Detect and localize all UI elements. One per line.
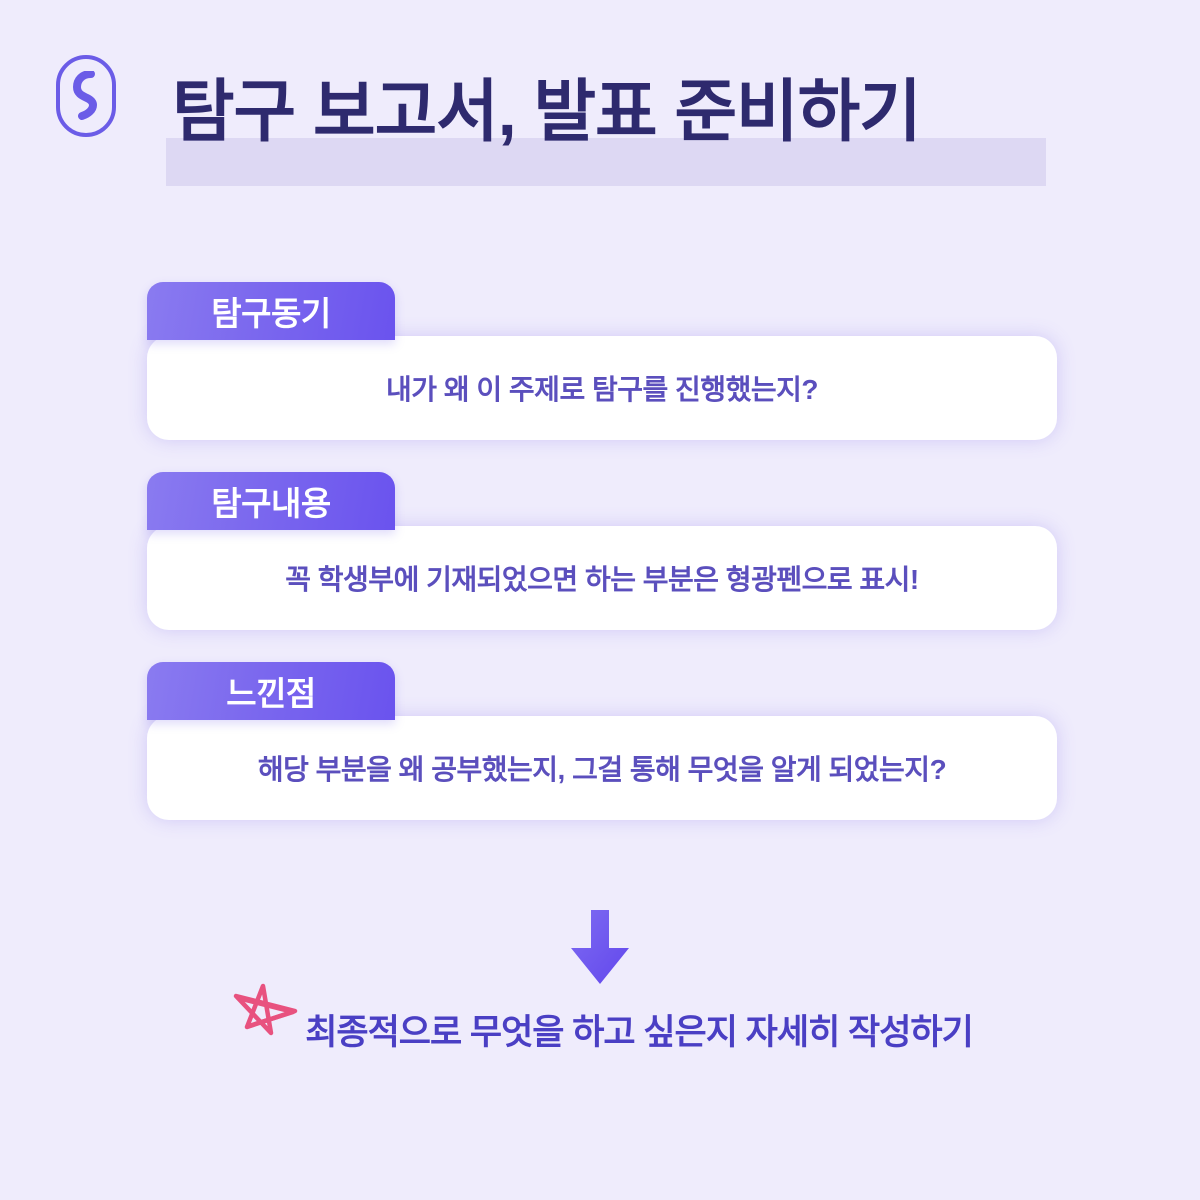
arrow-down-icon xyxy=(567,908,633,986)
lightning-bolt-badge-icon xyxy=(56,55,116,137)
section-card-text: 내가 왜 이 주제로 탐구를 진행했는지? xyxy=(360,368,844,408)
section-tab-label: 탐구내용 xyxy=(211,477,330,525)
section-card: 꼭 학생부에 기재되었으면 하는 부분은 형광펜으로 표시! xyxy=(147,526,1057,630)
arrow-down-container xyxy=(0,908,1200,986)
section-block: 탐구내용 꼭 학생부에 기재되었으면 하는 부분은 형광펜으로 표시! xyxy=(0,472,1200,630)
section-tab-reflection[interactable]: 느낀점 xyxy=(147,662,395,720)
section-block: 탐구동기 내가 왜 이 주제로 탐구를 진행했는지? xyxy=(0,282,1200,440)
section-card-text: 해당 부분을 왜 공부했는지, 그걸 통해 무엇을 알게 되었는지? xyxy=(232,748,972,788)
slide-canvas: 탐구 보고서, 발표 준비하기 탐구동기 내가 왜 이 주제로 탐구를 진행했는… xyxy=(0,0,1200,1200)
footer-text: 최종적으로 무엇을 하고 싶은지 자세히 작성하기 xyxy=(305,1004,973,1055)
hand-drawn-star-icon xyxy=(227,978,303,1053)
section-block: 느낀점 해당 부분을 왜 공부했는지, 그걸 통해 무엇을 알게 되었는지? xyxy=(0,662,1200,820)
page-title-text: 탐구 보고서, 발표 준비하기 xyxy=(172,78,921,146)
section-tab-content[interactable]: 탐구내용 xyxy=(147,472,395,530)
section-list: 탐구동기 내가 왜 이 주제로 탐구를 진행했는지? 탐구내용 꼭 학생부에 기… xyxy=(0,282,1200,852)
page-title: 탐구 보고서, 발표 준비하기 xyxy=(172,78,921,146)
section-tab-motivation[interactable]: 탐구동기 xyxy=(147,282,395,340)
section-card-text: 꼭 학생부에 기재되었으면 하는 부분은 형광펜으로 표시! xyxy=(259,558,944,598)
footer-callout: 최종적으로 무엇을 하고 싶은지 자세히 작성하기 xyxy=(0,992,1200,1067)
section-tab-label: 느낀점 xyxy=(226,667,316,715)
section-card: 해당 부분을 왜 공부했는지, 그걸 통해 무엇을 알게 되었는지? xyxy=(147,716,1057,820)
section-card: 내가 왜 이 주제로 탐구를 진행했는지? xyxy=(147,336,1057,440)
section-tab-label: 탐구동기 xyxy=(211,287,330,335)
